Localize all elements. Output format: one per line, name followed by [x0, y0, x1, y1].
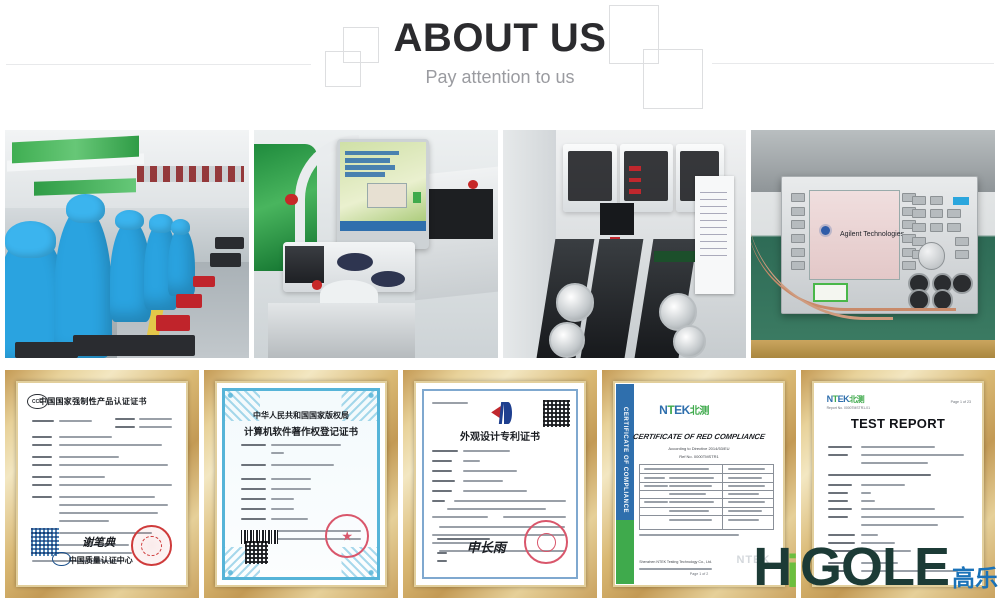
certificate-issuer: 中国质量认证中心	[69, 555, 133, 566]
cnipa-logo-icon	[490, 402, 520, 424]
page-number: Page 1 of 23	[951, 400, 971, 404]
photo-pick-and-place-machines: Row of SMT pick-and-place machines with …	[503, 130, 747, 358]
certificate-issuer: 中华人民共和国国家版权局	[253, 410, 349, 421]
qr-code-icon	[543, 400, 570, 427]
certificate-title: 中国国家强制性产品认证证书	[39, 396, 147, 407]
ntek-logo-cn: 北测	[849, 395, 864, 404]
report-number: Report No. 0000TMSTR1-01	[827, 406, 870, 410]
certificate-software-copyright[interactable]: 中华人民共和国国家版权局 计算机软件著作权登记证书	[204, 370, 398, 598]
ntek-logo-cn: 北测	[690, 406, 709, 417]
certificate-red-compliance[interactable]: CERTIFICATE OF COMPLIANCE NTEK北测 CERTIFI…	[602, 370, 796, 598]
certificate-title: 计算机软件著作权登记证书	[244, 424, 358, 438]
factory-photo-row: Workers in blue anti-static gowns and ca…	[5, 130, 995, 358]
certificate-signature: 申长雨	[467, 537, 506, 556]
page-number: Page 1 of 2	[690, 572, 708, 576]
compliance-side-band: CERTIFICATE OF COMPLIANCE	[616, 384, 634, 584]
certificate-subtitle: According to Directive 2014/53/EU	[668, 446, 729, 451]
page-title: ABOUT US	[330, 14, 670, 62]
ntek-logo: NTEK北测	[827, 394, 865, 405]
about-us-page: ABOUT US Pay attention to us	[0, 0, 1000, 600]
certificate-row: CCC 中国国家强制性产品认证证书	[5, 370, 995, 598]
header-rule-right	[712, 63, 994, 64]
ntek-logo: NTEK北测	[659, 402, 709, 417]
red-seal-icon	[131, 525, 172, 566]
page-subtitle: Pay attention to us	[330, 64, 670, 90]
photo-assembly-line: Workers in blue anti-static gowns and ca…	[5, 130, 249, 358]
header-title-block: ABOUT US Pay attention to us	[330, 14, 670, 90]
side-band-label: CERTIFICATE OF COMPLIANCE	[622, 407, 628, 513]
ntek-watermark: NTEK	[736, 554, 770, 566]
certificate-design-patent[interactable]: 外观设计专利证书	[403, 370, 597, 598]
qr-code-icon	[245, 541, 268, 564]
photo-rf-test-equipment: Agilent Technologies	[751, 130, 995, 358]
certificate-issuer: Shenzhen NTEK Testing Technology Co., Lt…	[639, 560, 712, 564]
qr-code-icon	[31, 528, 59, 556]
certificate-title: CERTIFICATE OF RED COMPLIANCE	[632, 432, 765, 441]
certificate-ccc[interactable]: CCC 中国国家强制性产品认证证书	[5, 370, 199, 598]
red-star-seal-icon: ★	[325, 514, 369, 558]
red-seal-icon	[524, 520, 568, 564]
compliance-table	[639, 464, 773, 530]
certificate-title: 外观设计专利证书	[460, 428, 540, 443]
header-rule-left	[6, 64, 311, 65]
certificate-signature: 谢笔典	[82, 534, 115, 550]
certificate-title: TEST REPORT	[851, 416, 945, 431]
certificate-test-report[interactable]: NTEK北测 Report No. 0000TMSTR1-01 Page 1 o…	[801, 370, 995, 598]
certificate-ref-no: Ref No. 0000TMSTR1	[679, 454, 719, 459]
photo-smt-inspection-machine: SMT inspection machine with a monitor sh…	[254, 130, 498, 358]
page-header: ABOUT US Pay attention to us	[0, 0, 1000, 118]
